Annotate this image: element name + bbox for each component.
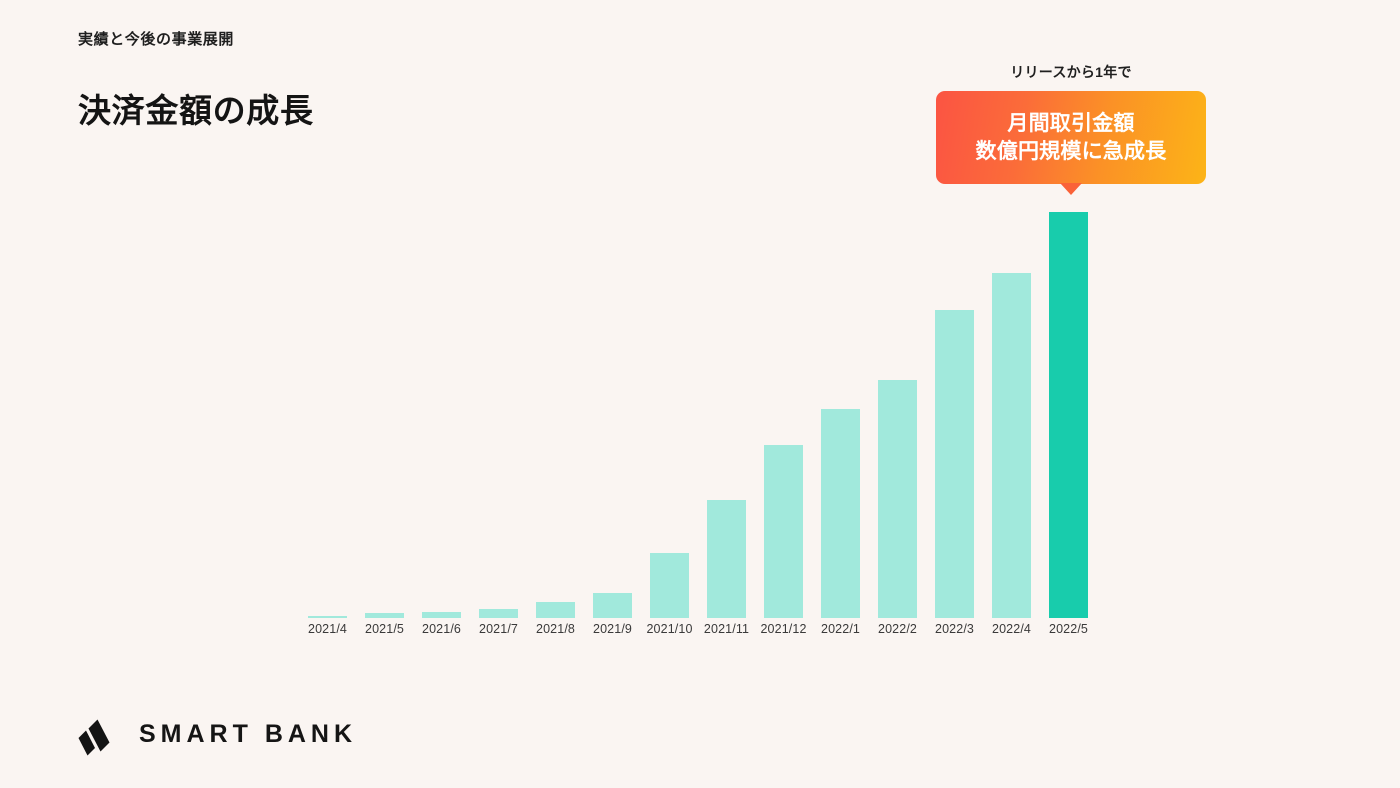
page-title: 決済金額の成長 [78, 84, 314, 132]
bar [593, 593, 632, 618]
bar [707, 500, 746, 618]
bar-column-2022-4[interactable]: 2022/4 [992, 198, 1031, 618]
bar-column-2021-11[interactable]: 2021/11 [707, 198, 746, 618]
bar-label: 2021/6 [422, 622, 461, 636]
bar [935, 310, 974, 618]
bar [308, 616, 347, 618]
bar-column-2021-8[interactable]: 2021/8 [536, 198, 575, 618]
bar [422, 612, 461, 618]
brand-logo: SMART BANK [78, 712, 357, 756]
brand-name: SMART BANK [139, 720, 357, 749]
bar [878, 380, 917, 618]
bar-label: 2022/1 [821, 622, 860, 636]
callout: リリースから1年で 月間取引金額 数億円規模に急成長 [936, 62, 1206, 184]
bar-column-2022-2[interactable]: 2022/2 [878, 198, 917, 618]
bar-column-2021-7[interactable]: 2021/7 [479, 198, 518, 618]
bar-column-2021-4[interactable]: 2021/4 [308, 198, 347, 618]
bar-label: 2021/8 [536, 622, 575, 636]
bar [365, 613, 404, 618]
callout-box: 月間取引金額 数億円規模に急成長 [936, 91, 1206, 184]
bar-label: 2022/4 [992, 622, 1031, 636]
bar-column-2022-1[interactable]: 2022/1 [821, 198, 860, 618]
bar-column-2021-10[interactable]: 2021/10 [650, 198, 689, 618]
bar-column-2022-5[interactable]: 2022/5 [1049, 198, 1088, 618]
bar [764, 445, 803, 618]
bar-label: 2021/9 [593, 622, 632, 636]
bar-label: 2022/3 [935, 622, 974, 636]
callout-kicker: リリースから1年で [936, 62, 1206, 82]
bar-label: 2021/11 [704, 622, 749, 636]
bar-column-2021-9[interactable]: 2021/9 [593, 198, 632, 618]
bar [650, 553, 689, 618]
bar-column-2021-12[interactable]: 2021/12 [764, 198, 803, 618]
bar-column-2021-5[interactable]: 2021/5 [365, 198, 404, 618]
bar-column-2021-6[interactable]: 2021/6 [422, 198, 461, 618]
callout-line-2: 数億円規模に急成長 [976, 138, 1167, 166]
bar [821, 409, 860, 618]
bar [479, 609, 518, 618]
bar-label: 2021/10 [646, 622, 692, 636]
smartbank-slash-mark-icon [78, 712, 120, 756]
bar [992, 273, 1031, 618]
bar [536, 602, 575, 618]
bar-label: 2022/5 [1049, 622, 1088, 636]
bar-label: 2021/5 [365, 622, 404, 636]
callout-tail-icon [1060, 183, 1082, 195]
callout-line-1: 月間取引金額 [1007, 110, 1134, 138]
eyebrow-label: 実績と今後の事業展開 [78, 28, 234, 49]
bar-label: 2021/7 [479, 622, 518, 636]
bar [1049, 212, 1088, 618]
bar-column-2022-3[interactable]: 2022/3 [935, 198, 974, 618]
bar-label: 2021/12 [760, 622, 806, 636]
bar-label: 2022/2 [878, 622, 917, 636]
bar-label: 2021/4 [308, 622, 347, 636]
